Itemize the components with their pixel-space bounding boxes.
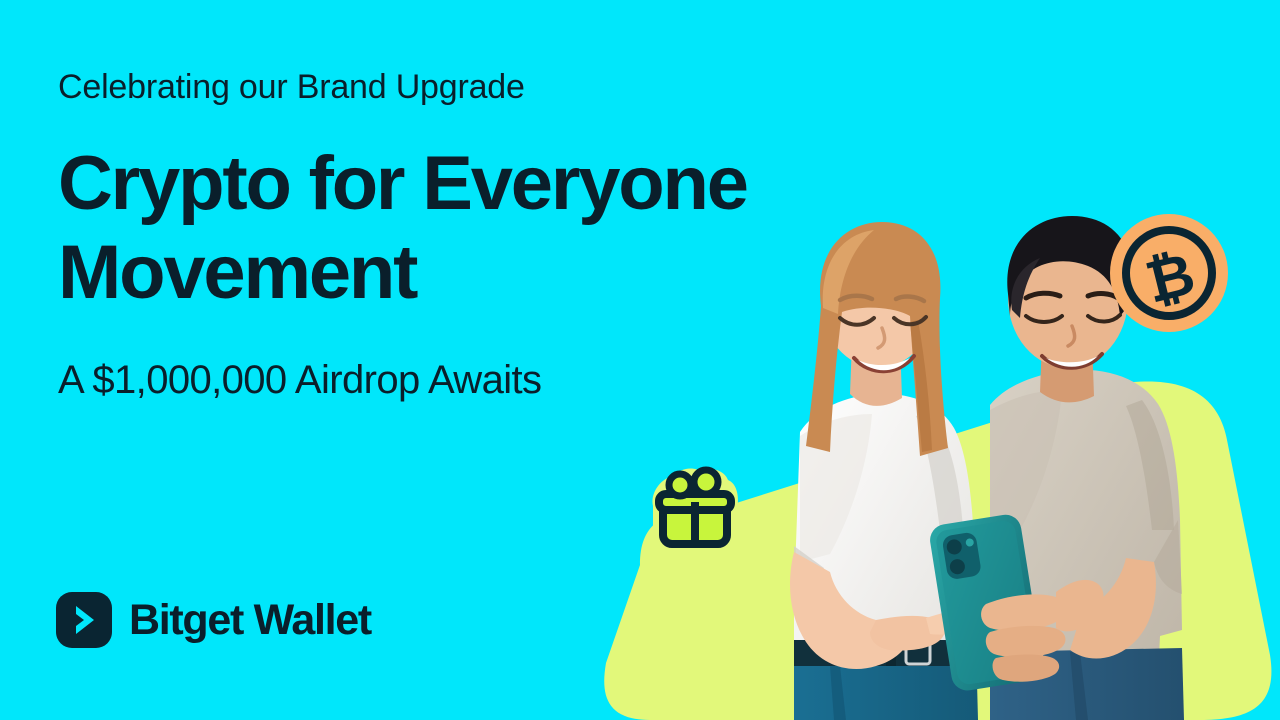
headline-block: Celebrating our Brand Upgrade Crypto for… [58, 66, 858, 404]
page-title: Crypto for Everyone Movement [58, 139, 858, 318]
headline-line-1: Crypto for Everyone [58, 139, 858, 229]
gift-box-icon [650, 466, 740, 552]
bitcoin-coin-icon: ₿ [1110, 214, 1228, 332]
headline-line-2: Movement [58, 228, 858, 318]
bitget-chevron-mark-icon [56, 592, 112, 648]
brand-logo-lockup: Bitget Wallet [56, 592, 371, 648]
promo-banner: ₿ Celebrating our Brand Upgrade Crypto f… [0, 0, 1280, 720]
subheadline-text: A $1,000,000 Airdrop Awaits [58, 356, 858, 404]
brand-wordmark: Bitget Wallet [129, 599, 371, 642]
eyebrow-text: Celebrating our Brand Upgrade [58, 66, 858, 109]
